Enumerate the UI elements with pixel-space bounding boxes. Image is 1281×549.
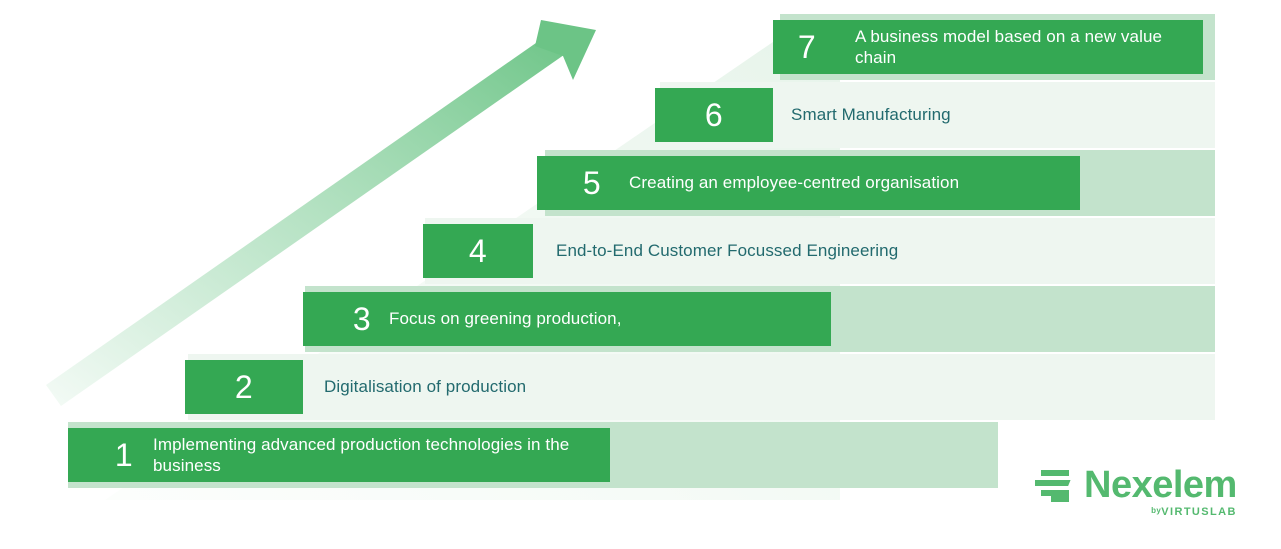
step-label-6: Smart Manufacturing (791, 88, 1211, 142)
step-label-5: Creating an employee-centred organisatio… (629, 156, 1079, 210)
step-label-1: Implementing advanced production technol… (153, 428, 601, 482)
step-label-7: A business model based on a new value ch… (855, 20, 1197, 74)
logo-parent-name: VIRTUSLAB (1161, 506, 1237, 518)
step-number-5: 5 (583, 167, 601, 199)
step-number-box-2[interactable]: 2 (185, 360, 303, 414)
nexelem-logo[interactable]: Nexelem byVIRTUSLAB (1035, 466, 1245, 516)
step-number-4: 4 (469, 235, 487, 267)
step-number-box-7[interactable]: 7 (773, 20, 841, 74)
step-number-1: 1 (115, 439, 133, 471)
logo-wordmark: Nexelem (1084, 466, 1237, 504)
step-label-2: Digitalisation of production (324, 360, 754, 414)
logo-by-prefix: by (1151, 506, 1161, 515)
infographic-canvas: 7 A business model based on a new value … (0, 0, 1281, 549)
step-number-2: 2 (235, 371, 253, 403)
step-number-box-4[interactable]: 4 (423, 224, 533, 278)
step-number-box-6[interactable]: 6 (655, 88, 773, 142)
step-number-3: 3 (353, 303, 371, 335)
nexelem-z-mark-icon (1035, 469, 1075, 503)
step-number-7: 7 (798, 31, 816, 63)
step-label-4: End-to-End Customer Focussed Engineering (556, 224, 1056, 278)
step-number-6: 6 (705, 99, 723, 131)
logo-parent-company: byVIRTUSLAB (1151, 506, 1237, 518)
step-label-3: Focus on greening production, (389, 292, 819, 346)
